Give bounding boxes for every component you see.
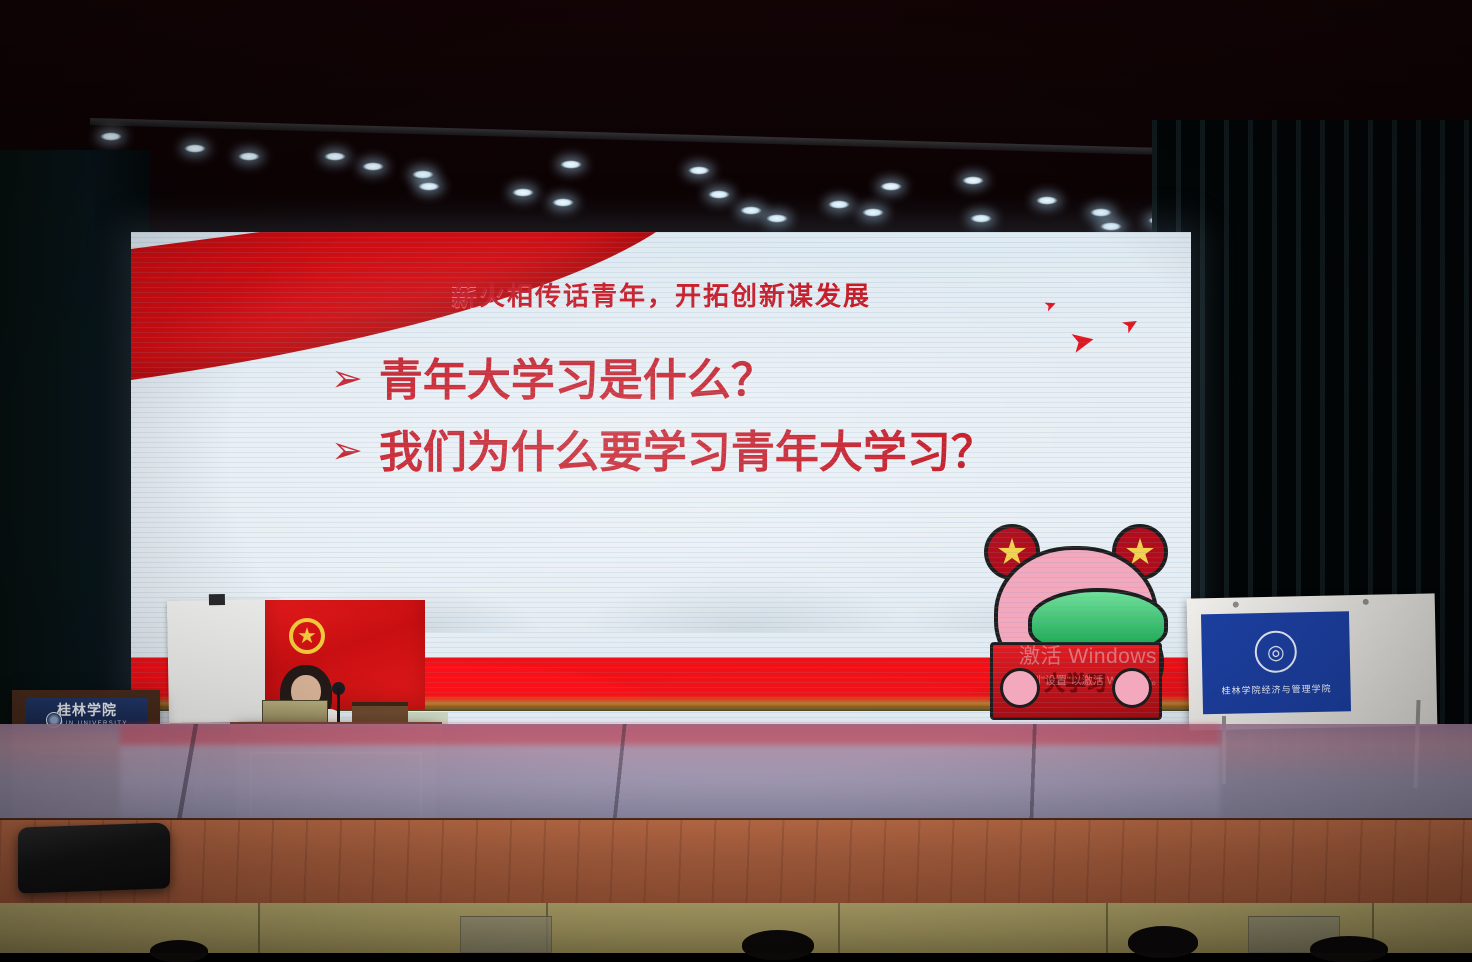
stage-light: [184, 144, 206, 153]
department-name: 桂林学院经济与管理学院: [1221, 681, 1331, 696]
stage-light: [766, 214, 788, 223]
stage-light: [740, 206, 762, 215]
stage-light: [1036, 196, 1058, 205]
youth-league-emblem: ★: [289, 618, 325, 654]
list-item: ➢ 青年大学习是什么？: [331, 350, 1051, 412]
bullet-arrow-icon: ➢: [331, 350, 363, 407]
banner-grommet: [1363, 599, 1369, 605]
banner-blue-panel: ◎ 桂林学院经济与管理学院: [1201, 611, 1351, 714]
stage-monitor-speaker: [18, 822, 170, 893]
stage-light: [552, 198, 574, 207]
stage-floor-seams: [0, 724, 1472, 828]
stage-front-seam: [1106, 903, 1108, 953]
stage-light: [100, 132, 122, 141]
book-label: 大学习: [1045, 667, 1108, 696]
mascot-hand-right: [1112, 668, 1152, 708]
microphone-stand: [337, 688, 340, 724]
mascot-illustration: ★ ★ 大学习: [976, 520, 1176, 720]
bullet-arrow-icon: ➢: [331, 422, 363, 479]
stage-light: [324, 152, 346, 161]
department-emblem-icon: ◎: [1254, 630, 1297, 673]
audience-head: [1128, 926, 1198, 958]
stage-light: [880, 182, 902, 191]
banner-grommet: [1233, 602, 1239, 608]
stage-light: [1090, 208, 1112, 217]
auditorium-scene: ➤ ➤ ➤ 薪火相传话青年，开拓创新谋发展 ➢ 青年大学习是什么？ ➢ 我们为什…: [0, 0, 1472, 953]
stage-light: [708, 190, 730, 199]
slide-title: 薪火相传话青年，开拓创新谋发展: [131, 276, 1191, 313]
stage-light: [688, 166, 710, 175]
stage-light: [512, 188, 534, 197]
audience-head: [150, 940, 208, 962]
stage-vent-panel: [460, 916, 552, 953]
stage-light: [970, 214, 992, 223]
stage-light: [362, 162, 384, 171]
bird-icon: ➤: [1067, 322, 1099, 361]
bullet-text: 青年大学习是什么？: [379, 350, 1051, 412]
stage-light: [238, 152, 260, 161]
stage-light: [1100, 222, 1122, 231]
bird-icon: ➤: [1117, 309, 1144, 339]
list-item: ➢ 我们为什么要学习青年大学习？: [331, 422, 1051, 484]
stage-light: [412, 170, 434, 179]
slide-bullet-list: ➢ 青年大学习是什么？ ➢ 我们为什么要学习青年大学习？: [331, 350, 1051, 495]
stage-light: [418, 182, 440, 191]
stage-light: [560, 160, 582, 169]
stage-light: [862, 208, 884, 217]
desk-books: [352, 702, 408, 724]
stage-front-seam: [838, 903, 840, 953]
stage-light: [962, 176, 984, 185]
stage-light: [828, 200, 850, 209]
star-icon: ★: [297, 625, 317, 647]
university-name-cn: 桂林学院: [57, 704, 117, 718]
stage-wood-floor: [0, 820, 1472, 906]
stage-curtain-left: [0, 150, 150, 770]
bullet-text: 我们为什么要学习青年大学习？: [379, 422, 1051, 484]
department-banner: ◎ 桂林学院经济与管理学院: [1187, 593, 1438, 730]
audience-head: [742, 930, 814, 960]
stage-front-seam: [258, 903, 260, 953]
mascot-hand-left: [1000, 668, 1040, 708]
audience-head: [1310, 936, 1388, 962]
board-clip: [209, 594, 225, 605]
